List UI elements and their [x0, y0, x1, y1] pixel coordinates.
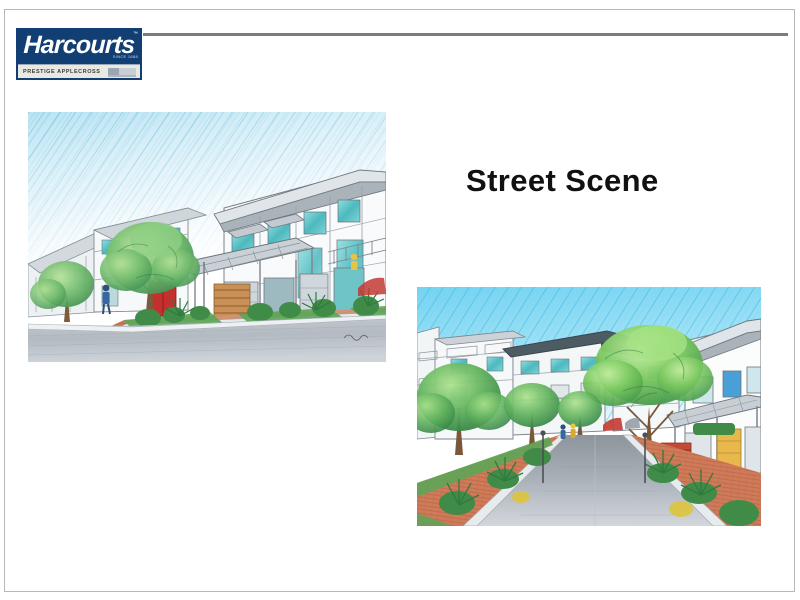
page-title: Street Scene: [466, 160, 766, 202]
harcourts-logo: Harcourts ™ SINCE 1888 PRESTIGE APPLECRO…: [16, 28, 142, 80]
logo-since-text: SINCE 1888: [113, 54, 138, 59]
partner-logo-underline-icon: [108, 75, 136, 77]
header-rule: [143, 33, 788, 36]
logo-subtitle-bar: PRESTIGE APPLECROSS: [18, 64, 140, 78]
logo-trademark: ™: [133, 31, 138, 37]
street-scene-render-left: [28, 112, 386, 362]
logo-subtitle-text: PRESTIGE APPLECROSS: [23, 66, 100, 78]
partner-logo-mark-icon: [108, 68, 136, 75]
presentation-slide: Harcourts ™ SINCE 1888 PRESTIGE APPLECRO…: [0, 0, 800, 600]
street-scene-render-right: [417, 287, 761, 526]
